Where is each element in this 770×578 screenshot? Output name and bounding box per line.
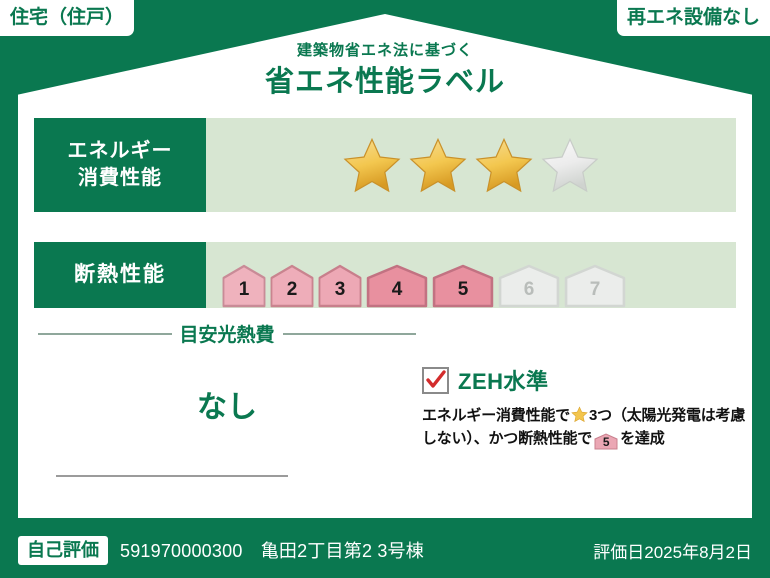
badge-building-type: 住宅（住戸） bbox=[0, 0, 134, 36]
zeh-block: ZEH水準 エネルギー消費性能で3つ（太陽光発電は考慮しない）、かつ断熱性能で5… bbox=[422, 364, 752, 451]
footer-id-address: 591970000300 亀田2丁目第2 3号棟 bbox=[120, 537, 424, 563]
row-insulation-performance: 断熱性能 1234567 bbox=[34, 242, 736, 308]
insulation-level-value: 6 bbox=[524, 279, 535, 308]
badge-renewable-energy: 再エネ設備なし bbox=[617, 0, 770, 36]
insulation-level-value: 2 bbox=[287, 279, 298, 308]
star-icon bbox=[540, 136, 600, 194]
insulation-level-value: 3 bbox=[335, 279, 346, 308]
insulation-performance-label-box: 断熱性能 bbox=[34, 242, 206, 308]
row-energy-performance: エネルギー 消費性能 bbox=[34, 118, 736, 212]
zeh-checkbox[interactable] bbox=[422, 367, 449, 394]
title-subtitle: 建築物省エネ法に基づく bbox=[18, 42, 752, 60]
insulation-level-value: 5 bbox=[458, 279, 469, 308]
label-footer: 自己評価 591970000300 亀田2丁目第2 3号棟 評価日2025年8月… bbox=[0, 522, 770, 578]
energy-performance-label-box: エネルギー 消費性能 bbox=[34, 118, 206, 212]
insulation-level-list: 1234567 bbox=[222, 264, 626, 308]
utility-cost-value: なし bbox=[38, 382, 416, 426]
insulation-level-3: 3 bbox=[318, 264, 362, 308]
label-card: 建築物省エネ法に基づく 省エネ性能ラベル エネルギー 消費性能 断熱性能 123… bbox=[18, 14, 752, 518]
insulation-scale-panel: 1234567 bbox=[206, 242, 736, 308]
zeh-desc-part3: を達成 bbox=[620, 430, 664, 447]
zeh-description: エネルギー消費性能で3つ（太陽光発電は考慮しない）、かつ断熱性能で5を達成 bbox=[422, 404, 752, 451]
inline-insulation-badge-value: 5 bbox=[603, 435, 609, 449]
insulation-level-value: 4 bbox=[392, 279, 403, 308]
heading-rule-right bbox=[283, 333, 417, 335]
check-icon bbox=[425, 369, 447, 391]
zeh-desc-part1: エネルギー消費性能で bbox=[422, 407, 570, 424]
insulation-level-value: 7 bbox=[590, 279, 601, 308]
page-title: 省エネ性能ラベル bbox=[18, 64, 752, 100]
insulation-level-5: 5 bbox=[432, 264, 494, 308]
insulation-label-text: 断熱性能 bbox=[74, 261, 166, 289]
insulation-level-value: 1 bbox=[239, 279, 250, 308]
star-icon bbox=[408, 136, 468, 194]
zeh-title: ZEH水準 bbox=[458, 364, 549, 396]
footer-evaluation-date: 評価日2025年8月2日 bbox=[593, 538, 752, 563]
star-icon bbox=[342, 136, 402, 194]
evaluation-type-badge: 自己評価 bbox=[18, 536, 108, 565]
energy-label-line2: 消費性能 bbox=[78, 165, 162, 192]
energy-label-line1: エネルギー bbox=[68, 138, 173, 165]
utility-cost-heading: 目安光熱費 bbox=[38, 320, 416, 347]
utility-cost-heading-text: 目安光熱費 bbox=[180, 320, 275, 347]
inline-insulation-badge: 5 bbox=[594, 433, 618, 450]
insulation-level-7: 7 bbox=[564, 264, 626, 308]
energy-performance-label: 住宅（住戸） 再エネ設備なし 建築物省エネ法に基づく 省エネ性能ラベル エネルギ… bbox=[0, 0, 770, 578]
insulation-level-2: 2 bbox=[270, 264, 314, 308]
heading-rule-left bbox=[38, 333, 172, 335]
insulation-level-1: 1 bbox=[222, 264, 266, 308]
star-icon bbox=[571, 406, 588, 423]
insulation-level-6: 6 bbox=[498, 264, 560, 308]
insulation-level-4: 4 bbox=[366, 264, 428, 308]
energy-star-rating bbox=[206, 118, 736, 212]
star-icon bbox=[474, 136, 534, 194]
utility-cost-underline bbox=[56, 475, 288, 477]
zeh-heading: ZEH水準 bbox=[422, 364, 752, 396]
label-title-block: 建築物省エネ法に基づく 省エネ性能ラベル bbox=[18, 42, 752, 100]
